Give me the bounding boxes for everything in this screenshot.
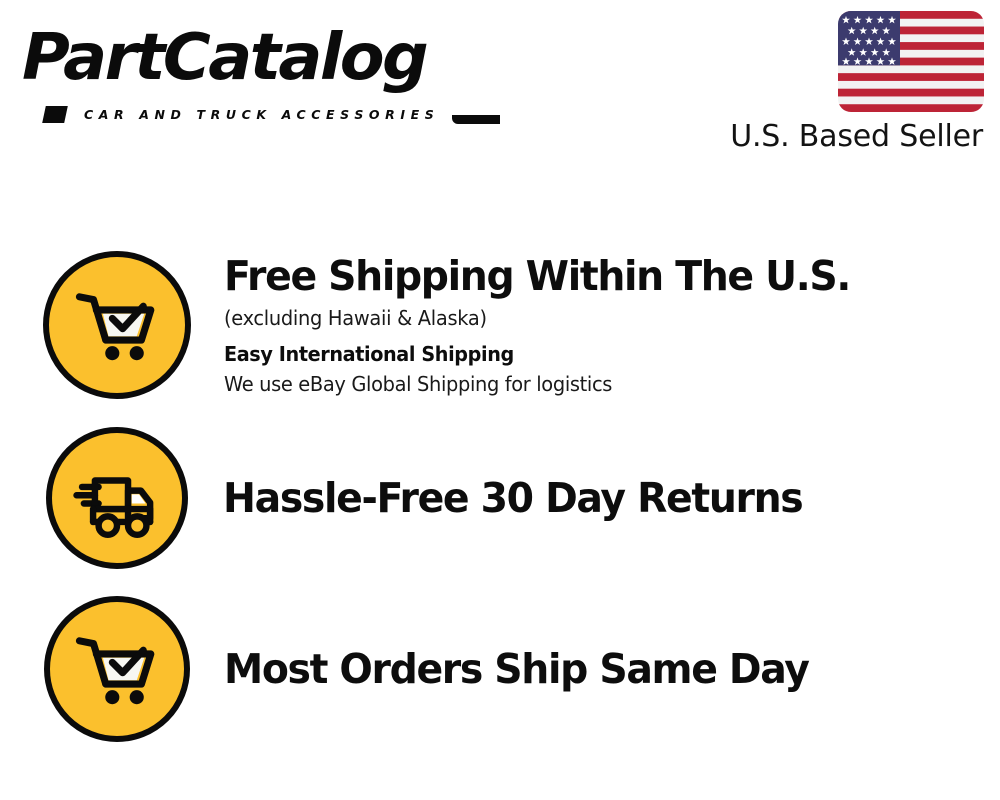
banner-header: PartCatalog CAR AND TRUCK ACCESSORIES [0, 0, 1000, 175]
shopping-cart-check-icon [44, 596, 190, 742]
feature-extra-subtitle: We use eBay Global Shipping for logistic… [224, 369, 977, 399]
us-flag-icon [838, 11, 984, 112]
feature-text-block: Most Orders Ship Same Day [224, 644, 1000, 694]
feature-row: Hassle-Free 30 Day Returns [0, 423, 1000, 573]
feature-extra-title: Easy International Shipping [224, 339, 969, 369]
brand-logo: PartCatalog CAR AND TRUCK ACCESSORIES [22, 20, 492, 115]
shopping-cart-check-icon [43, 251, 191, 399]
feature-title: Free Shipping Within The U.S. [224, 251, 969, 301]
feature-subtitle: (excluding Hawaii & Alaska) [224, 303, 977, 333]
brand-tagline: CAR AND TRUCK ACCESSORIES [84, 108, 439, 122]
brand-wordmark: PartCatalog [22, 20, 426, 96]
logo-flourish-right [452, 115, 500, 124]
feature-list: Free Shipping Within The U.S. (excluding… [0, 175, 1000, 800]
feature-row: Free Shipping Within The U.S. (excluding… [0, 245, 1000, 405]
feature-text-block: Hassle-Free 30 Day Returns [223, 473, 1000, 523]
feature-title: Most Orders Ship Same Day [224, 644, 969, 694]
feature-title: Hassle-Free 30 Day Returns [223, 473, 969, 523]
feature-row: Most Orders Ship Same Day [0, 593, 1000, 745]
logo-flourish-left [42, 106, 68, 123]
feature-text-block: Free Shipping Within The U.S. (excluding… [224, 251, 1000, 399]
delivery-truck-icon [46, 427, 188, 569]
us-based-seller-label: U.S. Based Seller [730, 118, 983, 156]
